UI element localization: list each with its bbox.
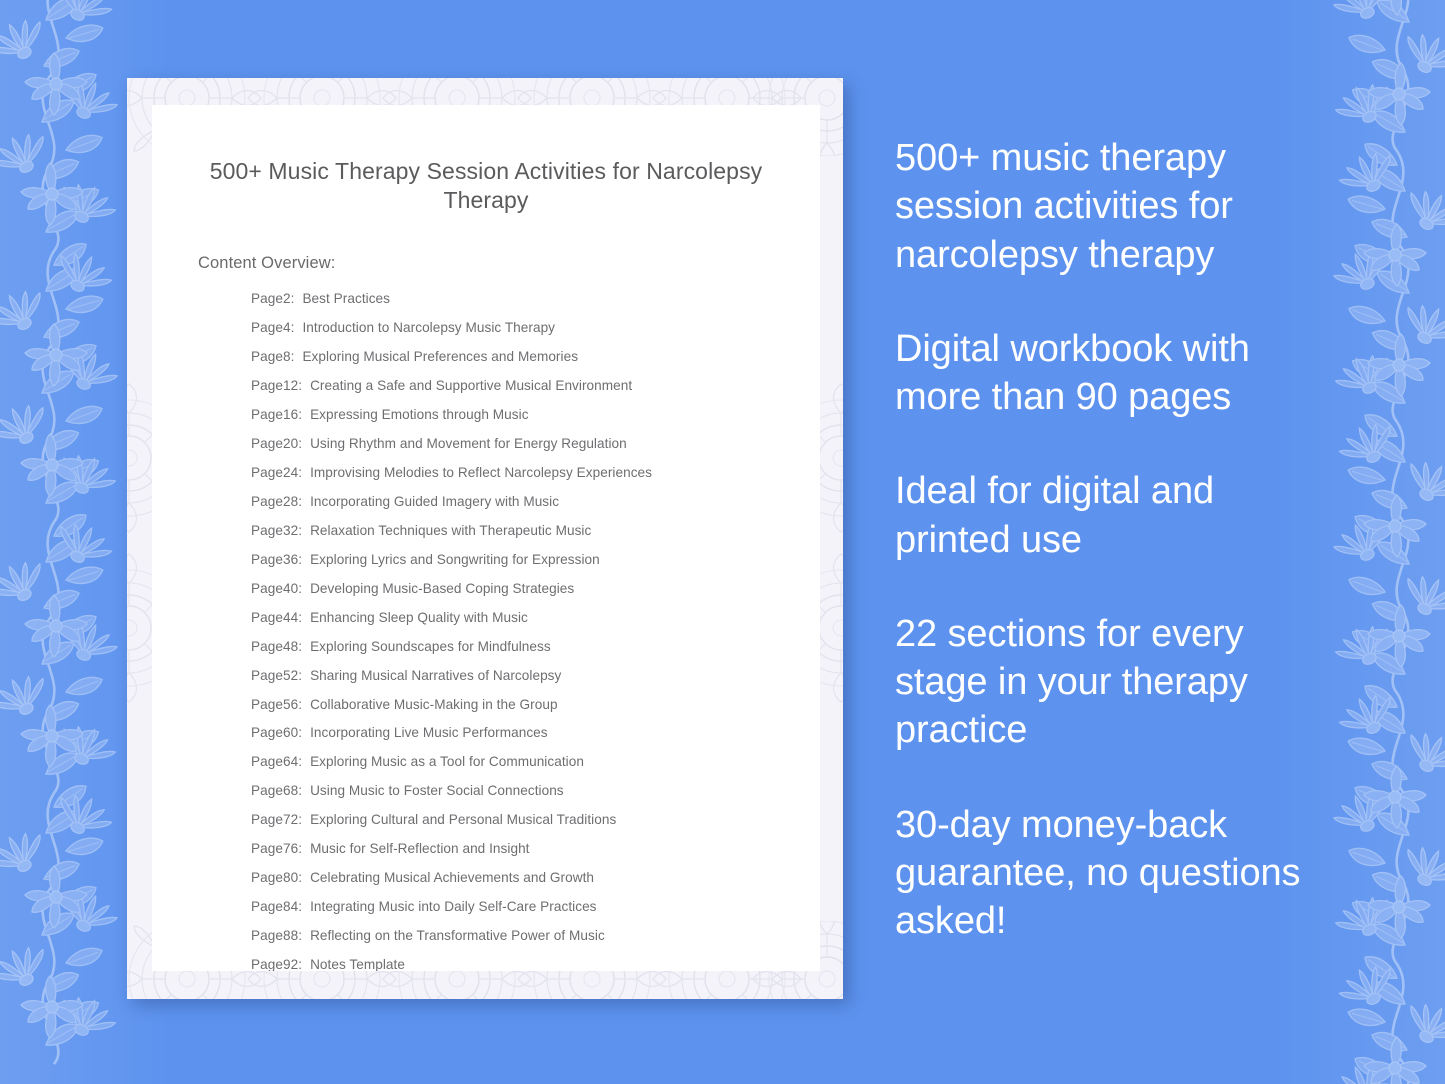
content-overview-label: Content Overview: — [152, 215, 820, 273]
toc-entry-title: Enhancing Sleep Quality with Music — [310, 611, 528, 625]
toc-row[interactable]: Page48:Exploring Soundscapes for Mindful… — [222, 640, 820, 654]
toc-entry-title: Music for Self-Reflection and Insight — [310, 842, 529, 856]
toc-page-number: Page — [222, 871, 283, 885]
toc-entry-title: Developing Music-Based Coping Strategies — [310, 582, 574, 596]
marketing-copy-column: 500+ music therapy session activities fo… — [895, 134, 1335, 945]
toc-entry-title: Incorporating Live Music Performances — [310, 726, 548, 740]
toc-page-number: Page — [222, 466, 283, 480]
marketing-blurb: 30-day money-back guarantee, no question… — [895, 801, 1335, 946]
toc-entry-title: Improvising Melodies to Reflect Narcolep… — [310, 466, 652, 480]
marketing-blurb: 500+ music therapy session activities fo… — [895, 134, 1335, 279]
toc-entry-title: Incorporating Guided Imagery with Music — [310, 495, 559, 509]
toc-row[interactable]: Page92:Notes Template — [222, 958, 820, 971]
toc-row[interactable]: Page2:Best Practices — [222, 292, 820, 306]
toc-entry-title: Introduction to Narcolepsy Music Therapy — [302, 321, 555, 335]
toc-page-value: 8: — [283, 350, 302, 364]
toc-page-value: 48: — [283, 640, 310, 654]
toc-entry-title: Expressing Emotions through Music — [310, 408, 529, 422]
toc-row[interactable]: Page72:Exploring Cultural and Personal M… — [222, 813, 820, 827]
toc-page-number: Page — [222, 350, 283, 364]
toc-page-number: Page — [222, 698, 283, 712]
toc-page-value: 84: — [283, 900, 310, 914]
toc-entry-title: Best Practices — [302, 292, 390, 306]
toc-page-number: Page — [222, 929, 283, 943]
toc-entry-title: Celebrating Musical Achievements and Gro… — [310, 871, 594, 885]
toc-page-number: Page — [222, 379, 283, 393]
floral-vine-left-icon — [0, 0, 142, 1084]
toc-row[interactable]: Page36:Exploring Lyrics and Songwriting … — [222, 553, 820, 567]
toc-row[interactable]: Page40:Developing Music-Based Coping Str… — [222, 582, 820, 596]
toc-page-number: Page — [222, 813, 283, 827]
workbook-preview-card[interactable]: 500+ Music Therapy Session Activities fo… — [127, 78, 843, 999]
toc-page-number: Page — [222, 726, 283, 740]
page-title: 500+ Music Therapy Session Activities fo… — [152, 105, 820, 215]
toc-entry-title: Exploring Music as a Tool for Communicat… — [310, 755, 584, 769]
toc-row[interactable]: Page64:Exploring Music as a Tool for Com… — [222, 755, 820, 769]
workbook-page: 500+ Music Therapy Session Activities fo… — [152, 105, 820, 971]
toc-row[interactable]: Page16:Expressing Emotions through Music — [222, 408, 820, 422]
toc-page-number: Page — [222, 958, 283, 971]
toc-entry-title: Notes Template — [310, 958, 405, 971]
toc-page-value: 72: — [283, 813, 310, 827]
toc-page-value: 32: — [283, 524, 310, 538]
toc-row[interactable]: Page20:Using Rhythm and Movement for Ene… — [222, 437, 820, 451]
toc-page-number: Page — [222, 669, 283, 683]
toc-row[interactable]: Page8:Exploring Musical Preferences and … — [222, 350, 820, 364]
toc-entry-title: Exploring Musical Preferences and Memori… — [302, 350, 578, 364]
toc-page-number: Page — [222, 408, 283, 422]
toc-page-number: Page — [222, 755, 283, 769]
toc-page-value: 4: — [283, 321, 302, 335]
toc-page-number: Page — [222, 524, 283, 538]
toc-row[interactable]: Page80:Celebrating Musical Achievements … — [222, 871, 820, 885]
toc-row[interactable]: Page84:Integrating Music into Daily Self… — [222, 900, 820, 914]
toc-entry-title: Creating a Safe and Supportive Musical E… — [310, 379, 632, 393]
promo-graphic: 500+ Music Therapy Session Activities fo… — [0, 0, 1445, 1084]
table-of-contents: Page2:Best Practices Page4:Introduction … — [152, 273, 820, 971]
marketing-blurb: 22 sections for every stage in your ther… — [895, 610, 1335, 755]
toc-row[interactable]: Page44:Enhancing Sleep Quality with Musi… — [222, 611, 820, 625]
toc-page-value: 40: — [283, 582, 310, 596]
toc-page-value: 28: — [283, 495, 310, 509]
toc-entry-title: Using Rhythm and Movement for Energy Reg… — [310, 437, 627, 451]
toc-page-value: 92: — [283, 958, 310, 971]
toc-entry-title: Relaxation Techniques with Therapeutic M… — [310, 524, 591, 538]
toc-entry-title: Exploring Soundscapes for Mindfulness — [310, 640, 551, 654]
toc-page-value: 20: — [283, 437, 310, 451]
toc-page-value: 24: — [283, 466, 310, 480]
toc-entry-title: Collaborative Music-Making in the Group — [310, 698, 558, 712]
toc-page-value: 80: — [283, 871, 310, 885]
toc-entry-title: Exploring Lyrics and Songwriting for Exp… — [310, 553, 600, 567]
toc-entry-title: Using Music to Foster Social Connections — [310, 784, 564, 798]
toc-row[interactable]: Page88:Reflecting on the Transformative … — [222, 929, 820, 943]
toc-page-value: 64: — [283, 755, 310, 769]
toc-page-number: Page — [222, 582, 283, 596]
toc-row[interactable]: Page28:Incorporating Guided Imagery with… — [222, 495, 820, 509]
toc-page-value: 2: — [283, 292, 302, 306]
toc-row[interactable]: Page4:Introduction to Narcolepsy Music T… — [222, 321, 820, 335]
toc-page-value: 56: — [283, 698, 310, 712]
toc-page-number: Page — [222, 842, 283, 856]
toc-page-number: Page — [222, 640, 283, 654]
toc-page-number: Page — [222, 784, 283, 798]
toc-entry-title: Sharing Musical Narratives of Narcolepsy — [310, 669, 561, 683]
toc-entry-title: Exploring Cultural and Personal Musical … — [310, 813, 616, 827]
toc-page-value: 76: — [283, 842, 310, 856]
toc-row[interactable]: Page60:Incorporating Live Music Performa… — [222, 726, 820, 740]
marketing-blurb: Ideal for digital and printed use — [895, 467, 1335, 564]
toc-page-value: 36: — [283, 553, 310, 567]
toc-row[interactable]: Page56:Collaborative Music-Making in the… — [222, 698, 820, 712]
toc-page-number: Page — [222, 900, 283, 914]
toc-page-value: 44: — [283, 611, 310, 625]
marketing-blurb: Digital workbook with more than 90 pages — [895, 325, 1335, 422]
toc-page-number: Page — [222, 321, 283, 335]
toc-page-value: 60: — [283, 726, 310, 740]
toc-entry-title: Integrating Music into Daily Self-Care P… — [310, 900, 596, 914]
toc-entry-title: Reflecting on the Transformative Power o… — [310, 929, 605, 943]
toc-row[interactable]: Page24:Improvising Melodies to Reflect N… — [222, 466, 820, 480]
toc-page-value: 16: — [283, 408, 310, 422]
toc-row[interactable]: Page12:Creating a Safe and Supportive Mu… — [222, 379, 820, 393]
toc-page-number: Page — [222, 611, 283, 625]
toc-page-number: Page — [222, 292, 283, 306]
toc-row[interactable]: Page68:Using Music to Foster Social Conn… — [222, 784, 820, 798]
toc-page-value: 88: — [283, 929, 310, 943]
toc-page-value: 68: — [283, 784, 310, 798]
toc-row[interactable]: Page76:Music for Self-Reflection and Ins… — [222, 842, 820, 856]
toc-page-value: 12: — [283, 379, 310, 393]
toc-row[interactable]: Page32:Relaxation Techniques with Therap… — [222, 524, 820, 538]
toc-row[interactable]: Page52:Sharing Musical Narratives of Nar… — [222, 669, 820, 683]
toc-page-number: Page — [222, 437, 283, 451]
toc-page-value: 52: — [283, 669, 310, 683]
toc-page-number: Page — [222, 553, 283, 567]
toc-page-number: Page — [222, 495, 283, 509]
